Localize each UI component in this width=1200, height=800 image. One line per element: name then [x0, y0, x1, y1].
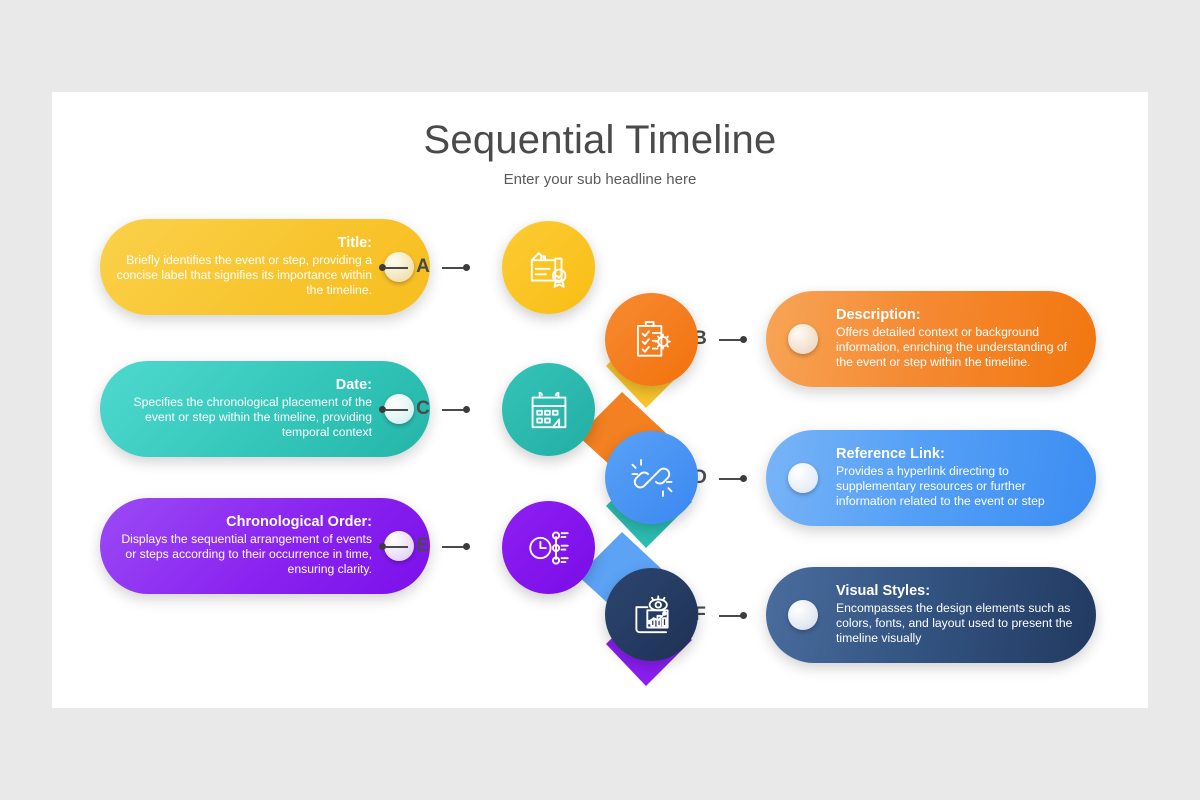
leader-line-e-left — [386, 546, 408, 548]
step-letter-e: E — [410, 535, 436, 557]
step-icon-circle-f[interactable] — [605, 568, 698, 661]
leader-dot-b-right — [740, 336, 747, 343]
step-card-a-title: Title: — [114, 235, 372, 252]
step-card-d-bead — [788, 463, 818, 493]
step-icon-circle-b[interactable] — [605, 293, 698, 386]
leader-line-c-left — [386, 409, 408, 411]
step-card-b-text: Description: Offers detailed context or … — [836, 307, 1080, 371]
step-card-b[interactable]: Description: Offers detailed context or … — [766, 291, 1096, 387]
leader-dot-a-right — [463, 264, 470, 271]
step-card-c-description: Specifies the chronological placement of… — [114, 395, 372, 441]
leader-line-f-right — [719, 615, 741, 617]
step-card-b-description: Offers detailed context or background in… — [836, 325, 1080, 371]
leader-dot-d-right — [740, 475, 747, 482]
slide-canvas: Sequential Timeline Enter your sub headl… — [52, 92, 1148, 708]
step-card-f-description: Encompasses the design elements such as … — [836, 601, 1080, 647]
step-letter-a: A — [410, 256, 436, 278]
step-letter-c: C — [410, 398, 436, 420]
step-card-c-title: Date: — [114, 377, 372, 394]
step-card-d-text: Reference Link: Provides a hyperlink dir… — [836, 446, 1080, 510]
step-card-d-title: Reference Link: — [836, 446, 1080, 463]
step-card-a-text: Title: Briefly identifies the event or s… — [114, 235, 372, 299]
clipboard-checklist-gear-icon — [627, 315, 677, 365]
leader-line-c-right — [442, 409, 464, 411]
step-card-a-description: Briefly identifies the event or step, pr… — [114, 253, 372, 299]
step-icon-circle-e[interactable] — [502, 501, 595, 594]
leader-line-d-right — [719, 478, 741, 480]
step-icon-circle-c[interactable] — [502, 363, 595, 456]
step-card-f-bead — [788, 600, 818, 630]
leader-dot-c-right — [463, 406, 470, 413]
step-card-f[interactable]: Visual Styles: Encompasses the design el… — [766, 567, 1096, 663]
leader-dot-f-right — [740, 612, 747, 619]
leader-dot-a-left — [379, 264, 386, 271]
leader-dot-e-left — [379, 543, 386, 550]
page-title: Sequential Timeline — [52, 118, 1148, 163]
step-card-e-description: Displays the sequential arrangement of e… — [114, 532, 372, 578]
step-card-f-text: Visual Styles: Encompasses the design el… — [836, 583, 1080, 647]
leader-dot-c-left — [379, 406, 386, 413]
leader-line-e-right — [442, 546, 464, 548]
step-card-e-title: Chronological Order: — [114, 514, 372, 531]
leader-line-b-right — [719, 339, 741, 341]
leader-dot-e-right — [463, 543, 470, 550]
step-card-f-title: Visual Styles: — [836, 583, 1080, 600]
step-card-b-bead — [788, 324, 818, 354]
step-card-e-text: Chronological Order: Displays the sequen… — [114, 514, 372, 578]
step-card-c-text: Date: Specifies the chronological placem… — [114, 377, 372, 441]
calendar-icon — [524, 385, 574, 435]
chart-eye-visual-icon — [627, 590, 677, 640]
step-icon-circle-a[interactable] — [502, 221, 595, 314]
leader-line-a-left — [386, 267, 408, 269]
clock-timeline-icon — [524, 523, 574, 573]
chain-link-icon — [627, 453, 677, 503]
step-icon-circle-d[interactable] — [605, 431, 698, 524]
step-card-b-title: Description: — [836, 307, 1080, 324]
leader-line-a-right — [442, 267, 464, 269]
page-subtitle: Enter your sub headline here — [52, 171, 1148, 188]
certificate-award-icon — [524, 243, 574, 293]
step-card-d-description: Provides a hyperlink directing to supple… — [836, 464, 1080, 510]
step-card-d[interactable]: Reference Link: Provides a hyperlink dir… — [766, 430, 1096, 526]
